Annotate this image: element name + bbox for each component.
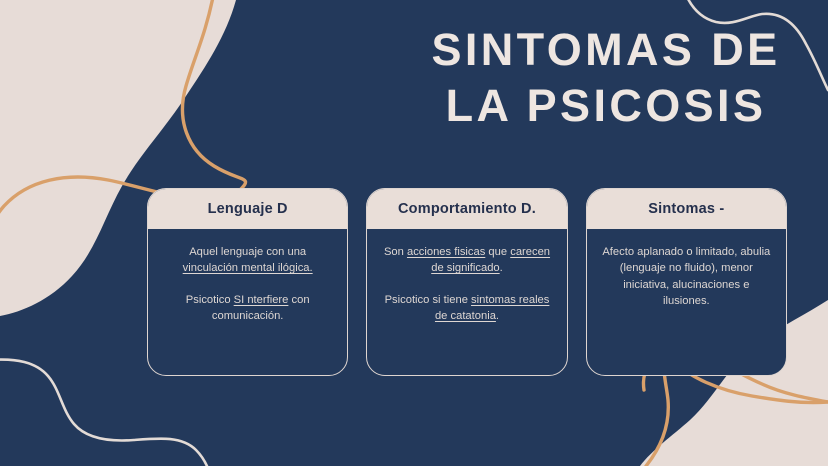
card-body-lenguaje-d: Aquel lenguaje con una vinculación menta… xyxy=(148,229,347,376)
page-title: SINTOMAS DE LA PSICOSIS xyxy=(398,22,814,134)
plain-text: Psicotico si tiene xyxy=(385,294,471,306)
card-title-sintomas-negativos: Sintomas - xyxy=(587,189,786,229)
emphasis-underlined-text: acciones fisicas xyxy=(407,246,485,258)
card-paragraph: Afecto aplanado o limitado, abulia (leng… xyxy=(599,244,774,310)
symptom-cards-row: Lenguaje D Aquel lenguaje con una vincul… xyxy=(147,188,787,376)
card-title-lenguaje-d: Lenguaje D xyxy=(148,189,347,229)
card-paragraph: Psicotico SI nterfiere con comunicación. xyxy=(160,292,335,325)
plain-text: Aquel lenguaje con una xyxy=(189,246,306,258)
page-title-line-1: SINTOMAS DE xyxy=(398,22,814,78)
presentation-slide: SINTOMAS DE LA PSICOSIS Lenguaje D Aquel… xyxy=(0,0,828,466)
card-paragraph: Psicotico si tiene sintomas reales de ca… xyxy=(379,292,554,325)
plain-text: . xyxy=(500,262,503,274)
plain-text: que xyxy=(485,246,510,258)
card-body-sintomas-negativos: Afecto aplanado o limitado, abulia (leng… xyxy=(587,229,786,376)
card-title-comportamiento-d: Comportamiento D. xyxy=(367,189,566,229)
card-body-comportamiento-d: Son acciones fisicas que carecen de sign… xyxy=(367,229,566,376)
card-lenguaje-d[interactable]: Lenguaje D Aquel lenguaje con una vincul… xyxy=(147,188,348,376)
card-sintomas-negativos[interactable]: Sintomas - Afecto aplanado o limitado, a… xyxy=(586,188,787,376)
emphasis-underlined-text: SI nterfiere xyxy=(234,294,289,306)
page-title-line-2: LA PSICOSIS xyxy=(398,78,814,134)
card-paragraph: Aquel lenguaje con una vinculación menta… xyxy=(160,244,335,277)
plain-text: . xyxy=(496,310,499,322)
card-comportamiento-d[interactable]: Comportamiento D. Son acciones fisicas q… xyxy=(366,188,567,376)
plain-text: Son xyxy=(384,246,407,258)
plain-text: Psicotico xyxy=(186,294,234,306)
card-paragraph: Son acciones fisicas que carecen de sign… xyxy=(379,244,554,277)
emphasis-underlined-text: vinculación mental ilógica. xyxy=(183,262,313,274)
plain-text: Afecto aplanado o limitado, abulia (leng… xyxy=(602,246,770,308)
